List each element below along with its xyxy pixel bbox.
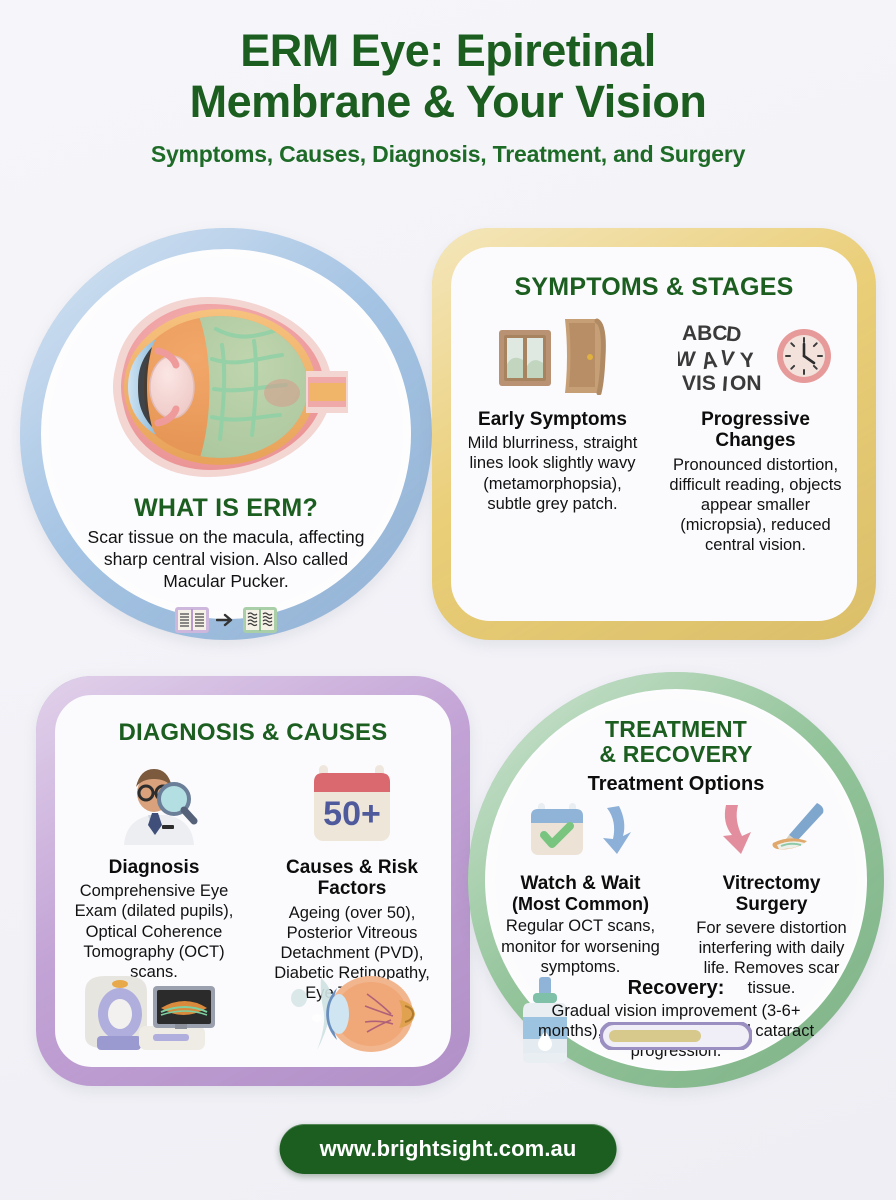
svg-text:ON: ON (730, 372, 762, 394)
watch-wait-body: Regular OCT scans, monitor for worsening… (489, 916, 673, 976)
surgical-tool-icon (767, 801, 827, 864)
svg-text:V: V (718, 346, 735, 371)
open-book-icon (175, 606, 209, 639)
diagnosis-body: Comprehensive Eye Exam (dilated pupils),… (68, 881, 240, 982)
book-comparison-icons (175, 606, 277, 639)
calendar-check-icon (528, 801, 586, 864)
diagnosis-panel-title: DIAGNOSIS & CAUSES (55, 719, 451, 747)
recovery-heading: Recovery: (485, 977, 867, 1000)
treatment-title-line-1: TREATMENT (485, 717, 867, 742)
progressive-change-icons: ABC D W A V Y VIS I ON (660, 315, 851, 401)
infographic-poster: ERM Eye: Epiretinal Membrane & Your Visi… (0, 0, 896, 1200)
panel-treatment-and-recovery: TREATMENT & RECOVERY Treatment Options (468, 672, 884, 1088)
causes-column: 50+ Causes & Risk Factors Ageing (over 5… (253, 757, 451, 1003)
window-icon (497, 324, 553, 393)
calendar-50plus-icon: 50+ (258, 757, 446, 849)
oct-scanner-icon (79, 970, 229, 1059)
symptoms-column-progressive: ABC D W A V Y VIS I ON (654, 315, 857, 555)
clock-icon (774, 326, 834, 391)
diagnosis-column: Diagnosis Comprehensive Eye Exam (dilate… (55, 757, 253, 1003)
vitrectomy-heading-line-1: Vitrectomy (676, 873, 867, 894)
oct-scanner-icon-wrap (55, 970, 253, 1059)
treatment-column-watch-wait: Watch & Wait (Most Common) Regular OCT s… (485, 799, 676, 998)
erm-panel-title: WHAT IS ERM? (41, 494, 411, 523)
treatment-options-subtitle: Treatment Options (485, 773, 867, 796)
early-symptom-icons (457, 315, 648, 401)
page-title-line-2: Membrane & Your Vision (0, 77, 896, 128)
watch-wait-heading-line-1: Watch & Wait (485, 873, 676, 894)
progress-bar-icon (600, 1022, 752, 1055)
treatment-column-vitrectomy: Vitrectomy Surgery For severe distortion… (676, 799, 867, 998)
diagnosis-heading: Diagnosis (60, 857, 248, 878)
symptoms-panel-title: SYMPTOMS & STAGES (451, 273, 857, 302)
website-badge[interactable]: www.brightsight.com.au (280, 1124, 617, 1174)
svg-text:D: D (724, 322, 741, 346)
early-symptoms-heading: Early Symptoms (457, 409, 648, 430)
svg-text:A: A (699, 346, 718, 374)
svg-text:ABC: ABC (682, 322, 728, 345)
progressive-changes-heading: Progressive Changes (660, 409, 851, 452)
page-subtitle: Symptoms, Causes, Diagnosis, Treatment, … (0, 141, 896, 168)
wavy-vision-text-icon: ABC D W A V Y VIS I ON (678, 318, 770, 399)
vitreous-detachment-eye-icon (287, 972, 417, 1059)
down-arrow-pink-icon (716, 801, 764, 864)
door-icon (557, 317, 609, 400)
arrow-right-icon (216, 612, 236, 633)
down-arrow-blue-icon (589, 802, 633, 863)
eye-cross-section-icon (96, 289, 356, 485)
doctor-magnifier-icon (60, 757, 248, 849)
early-symptoms-body: Mild blurriness, straight lines look sli… (467, 433, 639, 514)
svg-text:Y: Y (739, 349, 755, 372)
watch-wait-heading-line-2: (Most Common) (485, 894, 676, 914)
vitrectomy-heading-line-2: Surgery (676, 894, 867, 915)
poster-header: ERM Eye: Epiretinal Membrane & Your Visi… (0, 26, 896, 168)
panel-diagnosis-and-causes: DIAGNOSIS & CAUSES (36, 676, 470, 1086)
causes-heading: Causes & Risk Factors (258, 857, 446, 900)
treatment-panel-title: TREATMENT & RECOVERY (485, 717, 867, 768)
panel-symptoms-and-stages: SYMPTOMS & STAGES (432, 228, 876, 640)
page-title-line-1: ERM Eye: Epiretinal (0, 26, 896, 77)
treatment-title-line-2: & RECOVERY (485, 742, 867, 767)
panel-what-is-erm: WHAT IS ERM? Scar tissue on the macula, … (20, 228, 432, 640)
progressive-changes-body: Pronounced distortion, difficult reading… (667, 455, 845, 556)
erm-panel-body: Scar tissue on the macula, affecting sha… (82, 527, 370, 593)
calendar-label: 50+ (323, 795, 381, 833)
svg-text:I: I (721, 372, 728, 393)
wavy-book-icon (243, 606, 277, 639)
vitrectomy-icons (676, 799, 867, 865)
svg-text:W: W (678, 348, 697, 371)
symptoms-column-early: Early Symptoms Mild blurriness, straight… (451, 315, 654, 555)
watch-wait-icons (485, 799, 676, 865)
svg-text:VIS: VIS (682, 372, 716, 394)
vitreous-eye-icon-wrap (253, 970, 451, 1059)
